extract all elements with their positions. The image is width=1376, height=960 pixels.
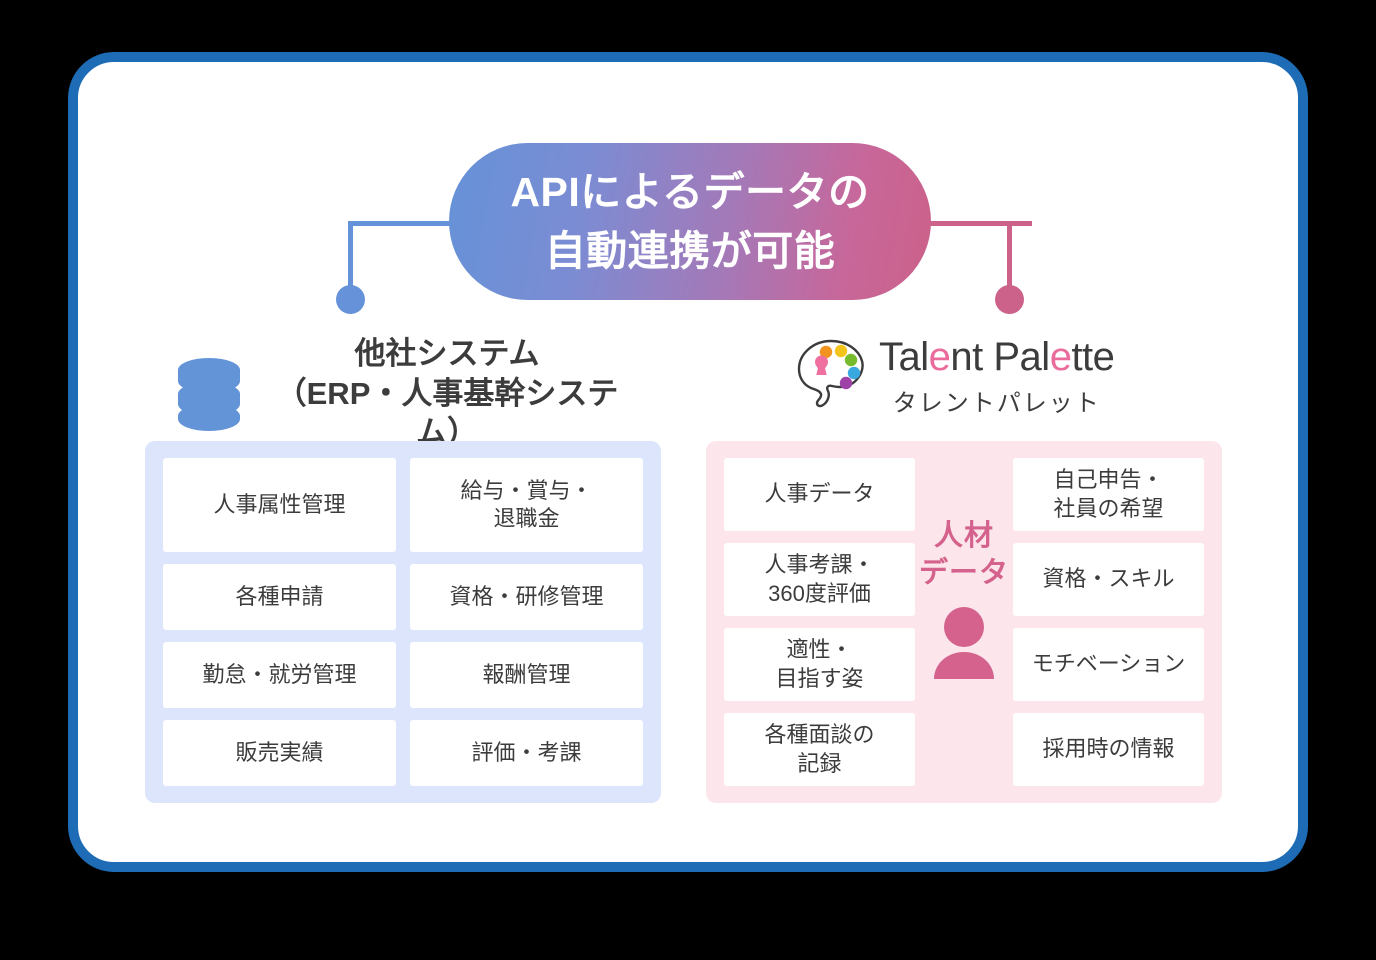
- card-item[interactable]: 各種申請: [163, 564, 396, 630]
- palette-icon: [795, 338, 867, 408]
- connector-right-dot: [995, 285, 1024, 314]
- card-item[interactable]: 自己申告・ 社員の希望: [1013, 458, 1204, 531]
- card-item[interactable]: 資格・スキル: [1013, 543, 1204, 616]
- talent-palette-panel: 人事データ 人事考課・ 360度評価 適性・ 目指す姿 各種面談の 記録 人材 …: [706, 441, 1222, 803]
- card-item[interactable]: 報酬管理: [410, 642, 643, 708]
- card-item[interactable]: 人事考課・ 360度評価: [724, 543, 915, 616]
- title-pill: APIによるデータの 自動連携が可能: [449, 143, 931, 300]
- card-item[interactable]: 販売実績: [163, 720, 396, 786]
- card-item[interactable]: 評価・考課: [410, 720, 643, 786]
- database-icon: [176, 357, 242, 431]
- logo-wordmark: Talent Palette: [879, 336, 1114, 378]
- logo-kana: タレントパレット: [893, 383, 1101, 418]
- diagram-canvas: APIによるデータの 自動連携が可能 他社システム （ERP・人事基幹システム）: [0, 0, 1376, 960]
- title-text: APIによるデータの 自動連携が可能: [510, 163, 869, 279]
- talent-data-label: 人材 データ: [919, 518, 1009, 591]
- left-system-panel: 人事属性管理 給与・賞与・ 退職金 各種申請 資格・研修管理 勤怠・就労管理 報…: [145, 441, 661, 803]
- person-icon: [928, 605, 1000, 681]
- right-panel-left-column: 人事データ 人事考課・ 360度評価 適性・ 目指す姿 各種面談の 記録: [724, 458, 915, 786]
- right-section-header: Talent Palette タレントパレット: [795, 336, 1225, 418]
- card-item[interactable]: 採用時の情報: [1013, 713, 1204, 786]
- card-item[interactable]: 勤怠・就労管理: [163, 642, 396, 708]
- left-card-grid: 人事属性管理 給与・賞与・ 退職金 各種申請 資格・研修管理 勤怠・就労管理 報…: [163, 458, 643, 786]
- card-item[interactable]: 人事データ: [724, 458, 915, 531]
- card-item[interactable]: モチベーション: [1013, 628, 1204, 701]
- talent-data-center: 人材 データ: [915, 458, 1013, 786]
- card-item[interactable]: 各種面談の 記録: [724, 713, 915, 786]
- right-panel-right-column: 自己申告・ 社員の希望 資格・スキル モチベーション 採用時の情報: [1013, 458, 1204, 786]
- connector-left-dot: [336, 285, 365, 314]
- talent-palette-logo: Talent Palette タレントパレット: [879, 336, 1114, 418]
- card-item[interactable]: 給与・賞与・ 退職金: [410, 458, 643, 552]
- card-item[interactable]: 人事属性管理: [163, 458, 396, 552]
- left-section-title: 他社システム （ERP・人事基幹システム）: [260, 334, 634, 453]
- right-card-grid: 人事データ 人事考課・ 360度評価 適性・ 目指す姿 各種面談の 記録 人材 …: [724, 458, 1204, 786]
- card-item[interactable]: 適性・ 目指す姿: [724, 628, 915, 701]
- left-section-header: 他社システム （ERP・人事基幹システム）: [176, 334, 676, 453]
- card-item[interactable]: 資格・研修管理: [410, 564, 643, 630]
